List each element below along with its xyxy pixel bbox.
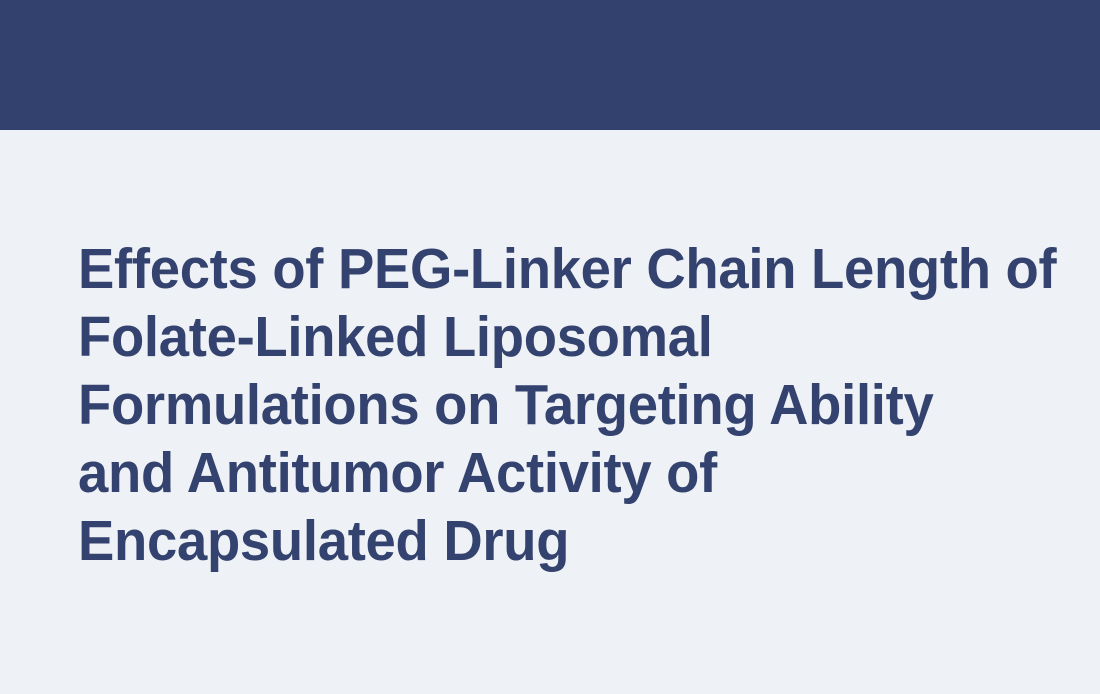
title-line-4: and Antitumor Activity of xyxy=(78,439,1014,507)
title-line-2: Folate-Linked Liposomal xyxy=(78,303,1014,371)
title-line-1: Effects of PEG-Linker Chain Length of xyxy=(78,235,1014,303)
content-area: Effects of PEG-Linker Chain Length of Fo… xyxy=(0,130,1100,694)
page-root: Effects of PEG-Linker Chain Length of Fo… xyxy=(0,0,1100,694)
header-band xyxy=(0,0,1100,130)
title-line-5: Encapsulated Drug xyxy=(78,507,1014,575)
page-title: Effects of PEG-Linker Chain Length of Fo… xyxy=(78,235,1058,575)
title-line-3: Formulations on Targeting Ability xyxy=(78,371,1014,439)
